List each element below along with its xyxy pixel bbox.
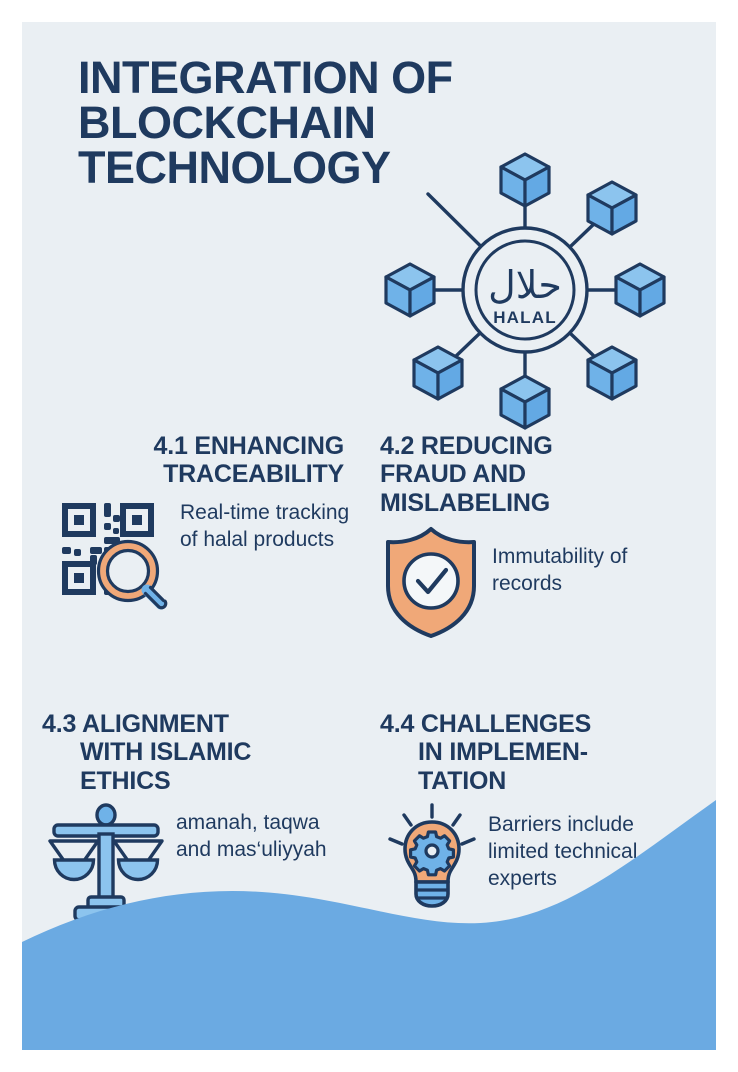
- heading-line: IN IMPLEMEN-: [418, 738, 692, 766]
- blockchain-network-graphic: حلال HALAL: [340, 140, 700, 440]
- section-4-3: 4.3 ALIGNMENT WITH ISLAMIC ETHICS: [32, 710, 352, 930]
- heading-line: 4.3 ALIGNMENT: [42, 710, 352, 738]
- heading-line: 4.2 REDUCING: [380, 432, 692, 460]
- emblem-arabic-script: حلال: [488, 263, 562, 307]
- section-4-2-body: Immutability of records: [492, 523, 692, 598]
- heading-line: WITH ISLAMIC: [80, 738, 352, 766]
- section-4-1-body: Real-time tracking of halal products: [180, 495, 352, 554]
- section-4-4-heading: 4.4 CHALLENGES IN IMPLEMEN- TATION: [372, 710, 692, 795]
- heading-line: 4.1 ENHANCING: [32, 432, 344, 460]
- section-4-4-body: Barriers include limited technical exper…: [488, 801, 692, 893]
- hub-emblem: حلال HALAL: [463, 228, 587, 352]
- qr-code-magnifier-icon: [54, 495, 172, 618]
- title-line-1: INTEGRATION OF: [78, 55, 508, 100]
- title-line-2: BLOCKCHAIN: [78, 100, 508, 145]
- cube-icon: [616, 264, 664, 316]
- heading-line: MISLABELING: [380, 489, 692, 517]
- balance-scales-icon: [44, 801, 168, 930]
- cube-icon: [386, 264, 434, 316]
- section-4-3-body: amanah, taqwa and mas‘uliyyah: [176, 801, 352, 864]
- section-4-3-heading: 4.3 ALIGNMENT WITH ISLAMIC ETHICS: [32, 710, 352, 795]
- section-4-2-heading: 4.2 REDUCING FRAUD AND MISLABELING: [372, 432, 692, 517]
- heading-line: 4.4 CHALLENGES: [380, 710, 692, 738]
- cube-icon: [414, 347, 462, 399]
- blockchain-hub-svg: حلال HALAL: [340, 140, 700, 440]
- section-4-1: 4.1 ENHANCING TRACEABILITY: [32, 432, 352, 618]
- section-4-2: 4.2 REDUCING FRAUD AND MISLABELING Immut…: [372, 432, 692, 646]
- heading-line: ETHICS: [80, 767, 352, 795]
- section-4-4: 4.4 CHALLENGES IN IMPLEMEN- TATION: [372, 710, 692, 918]
- lightbulb-gear-icon: [384, 801, 480, 918]
- section-4-1-heading: 4.1 ENHANCING TRACEABILITY: [32, 432, 352, 489]
- heading-line: TATION: [418, 767, 692, 795]
- cube-icon: [588, 347, 636, 399]
- cube-icon: [588, 182, 636, 234]
- shield-check-icon: [378, 523, 484, 646]
- cube-icon: [501, 154, 549, 206]
- infographic-poster: INTEGRATION OF BLOCKCHAIN TECHNOLOGY: [22, 22, 716, 1050]
- heading-line: FRAUD AND: [380, 460, 692, 488]
- heading-line: TRACEABILITY: [32, 460, 344, 488]
- emblem-label: HALAL: [493, 308, 557, 327]
- cube-icon: [501, 376, 549, 428]
